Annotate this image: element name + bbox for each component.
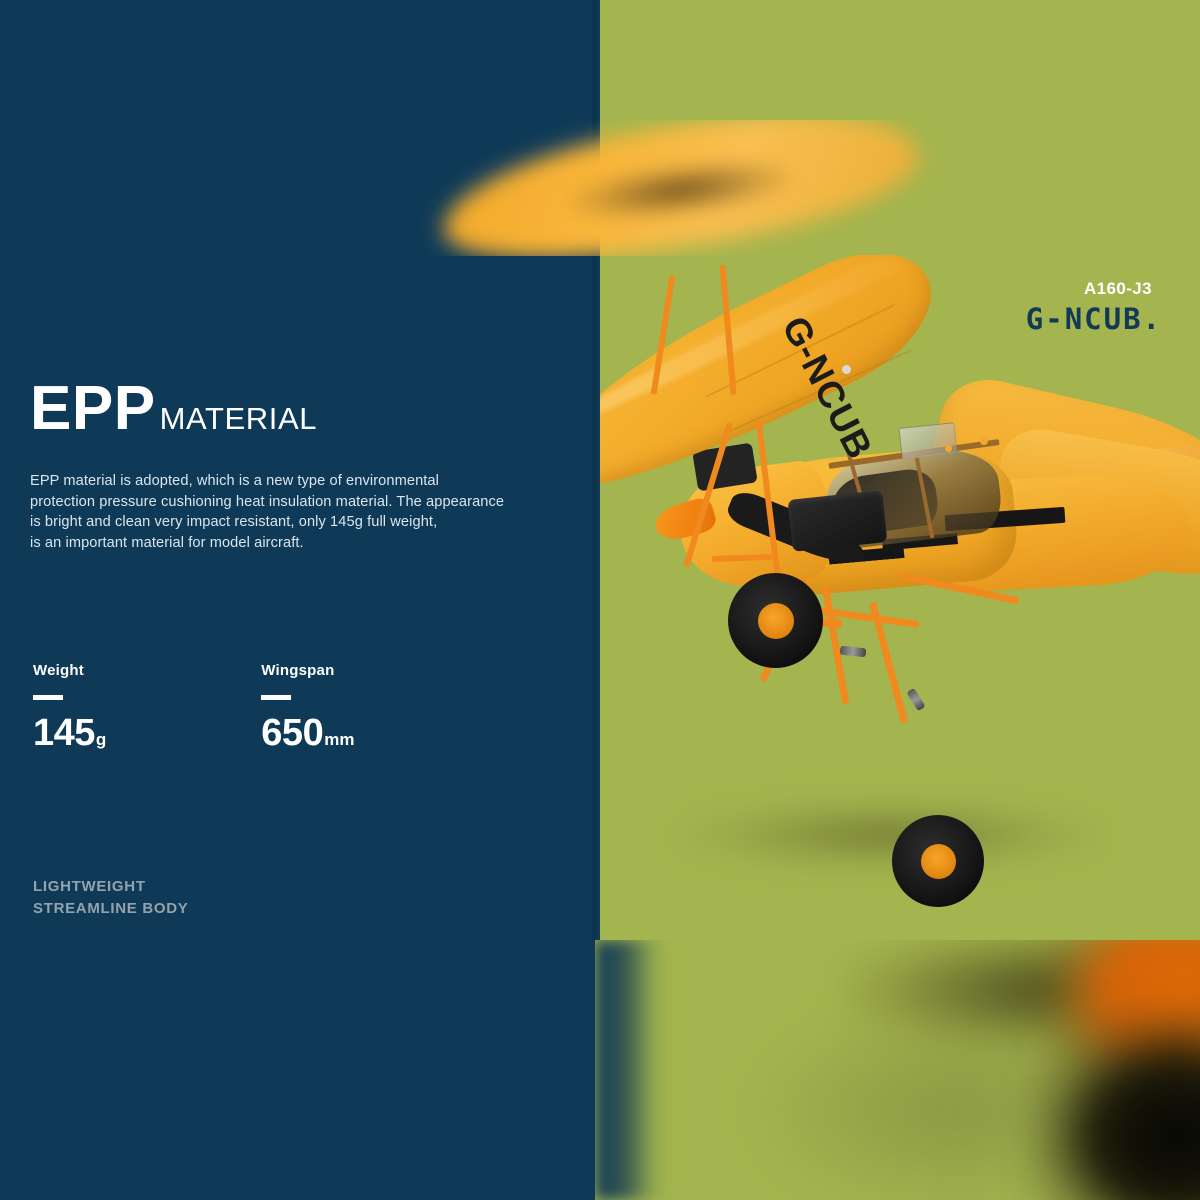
blurred-top-wing	[400, 120, 960, 256]
bottom-green-band	[595, 940, 1200, 1200]
brand-logo: G-NCUB.	[1026, 302, 1162, 336]
model-code-label: A160-J3	[1084, 279, 1152, 299]
spec-unit: mm	[324, 731, 354, 748]
gear-linkage	[840, 646, 867, 658]
rear-wheel	[892, 815, 984, 907]
spec-label: Weight	[33, 662, 106, 679]
spec-item-wingspan: Wingspan 650 mm	[261, 662, 354, 752]
title-secondary: MATERIAL	[160, 403, 318, 434]
wing-root-window	[898, 422, 957, 460]
description-line: is an important material for model aircr…	[30, 533, 590, 554]
spec-unit: g	[96, 731, 106, 748]
battery-pack	[788, 490, 888, 552]
aircraft-photo: G-NCUB	[600, 255, 1200, 940]
description-line: is bright and clean very impact resistan…	[30, 512, 590, 533]
page-title: EPP MATERIAL	[30, 378, 317, 440]
spec-item-weight: Weight 145 g	[33, 662, 106, 752]
wheel-hub	[921, 844, 956, 879]
description-line: EPP material is adopted, which is a new …	[30, 471, 590, 492]
tagline-line-1: LIGHTWEIGHT	[33, 876, 189, 898]
spec-value: 145 g	[33, 714, 106, 752]
front-wheel	[728, 573, 823, 668]
product-feature-banner: G-NCUB A160-J3 G-NCUB. EPP MATERIAL E	[0, 0, 1200, 1200]
wing-fitting	[980, 437, 988, 445]
description-line: protection pressure cushioning heat insu…	[30, 492, 590, 513]
wheel-hub	[758, 603, 794, 639]
spec-value: 650 mm	[261, 714, 354, 752]
spec-divider	[33, 695, 63, 700]
tagline-line-2: STREAMLINE BODY	[33, 898, 189, 920]
tagline: LIGHTWEIGHT STREAMLINE BODY	[33, 876, 189, 920]
spec-number: 145	[33, 714, 95, 752]
wing-fitting	[842, 365, 851, 374]
description-text: EPP material is adopted, which is a new …	[30, 471, 590, 553]
title-primary: EPP	[30, 378, 156, 440]
gear-linkage	[906, 688, 925, 711]
spec-number: 650	[261, 714, 323, 752]
blurred-propeller	[1030, 1010, 1200, 1200]
ground-shadow	[680, 800, 1100, 870]
spec-list: Weight 145 g Wingspan 650 mm	[33, 662, 354, 752]
spec-label: Wingspan	[261, 662, 354, 679]
landing-gear-leg	[822, 585, 850, 704]
spec-divider	[261, 695, 291, 700]
wing-fitting	[945, 445, 952, 452]
